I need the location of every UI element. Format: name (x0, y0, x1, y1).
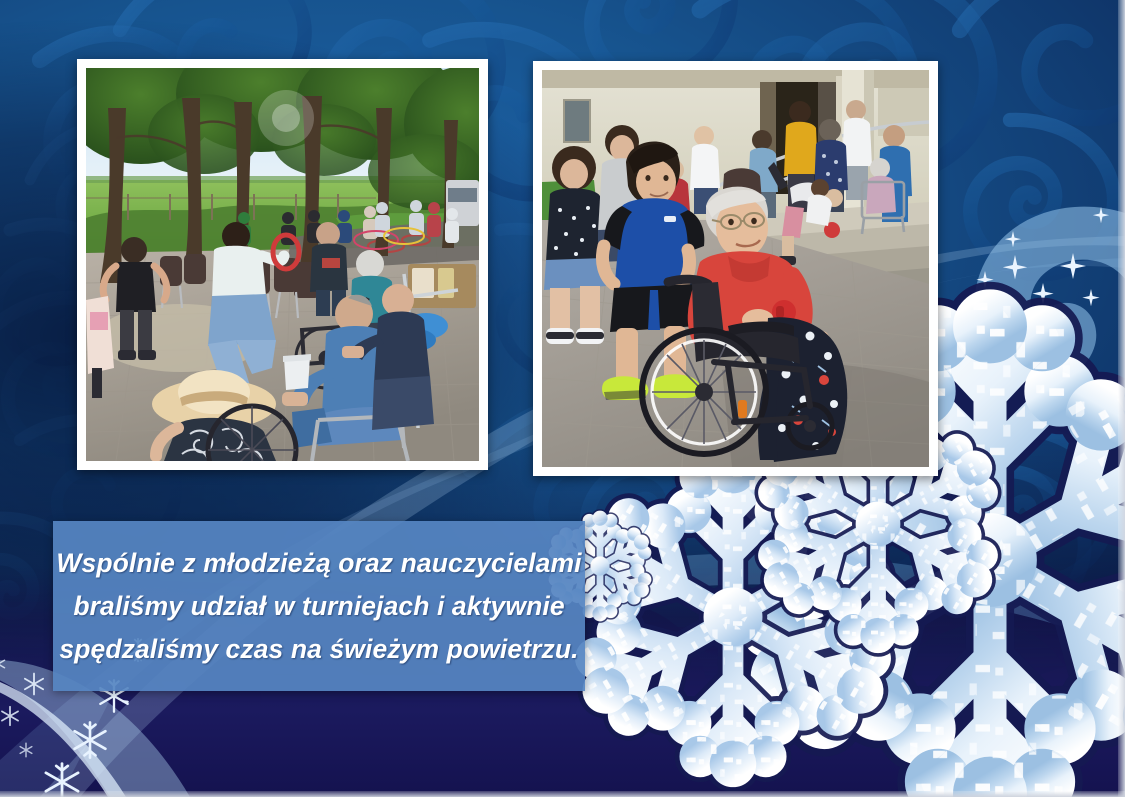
slide-right-edge (1118, 0, 1125, 797)
photo-right-image (542, 70, 929, 467)
caption-line-3: spędzaliśmy czas na świeżym powietrzu. (59, 629, 578, 669)
photo-right[interactable] (533, 61, 938, 476)
slide-canvas: Wspólnie z młodzieżą oraz nauczycielami … (0, 0, 1125, 797)
photo-left-image (86, 68, 479, 461)
caption-box: Wspólnie z młodzieżą oraz nauczycielami … (53, 521, 585, 691)
photo-left[interactable] (77, 59, 488, 470)
caption-line-2: braliśmy udział w turniejach i aktywnie (73, 586, 564, 626)
sparkle-swirl-icon (955, 175, 1125, 390)
slide-bottom-edge (0, 791, 1125, 797)
caption-line-1: Wspólnie z młodzieżą oraz nauczycielami (56, 543, 581, 583)
